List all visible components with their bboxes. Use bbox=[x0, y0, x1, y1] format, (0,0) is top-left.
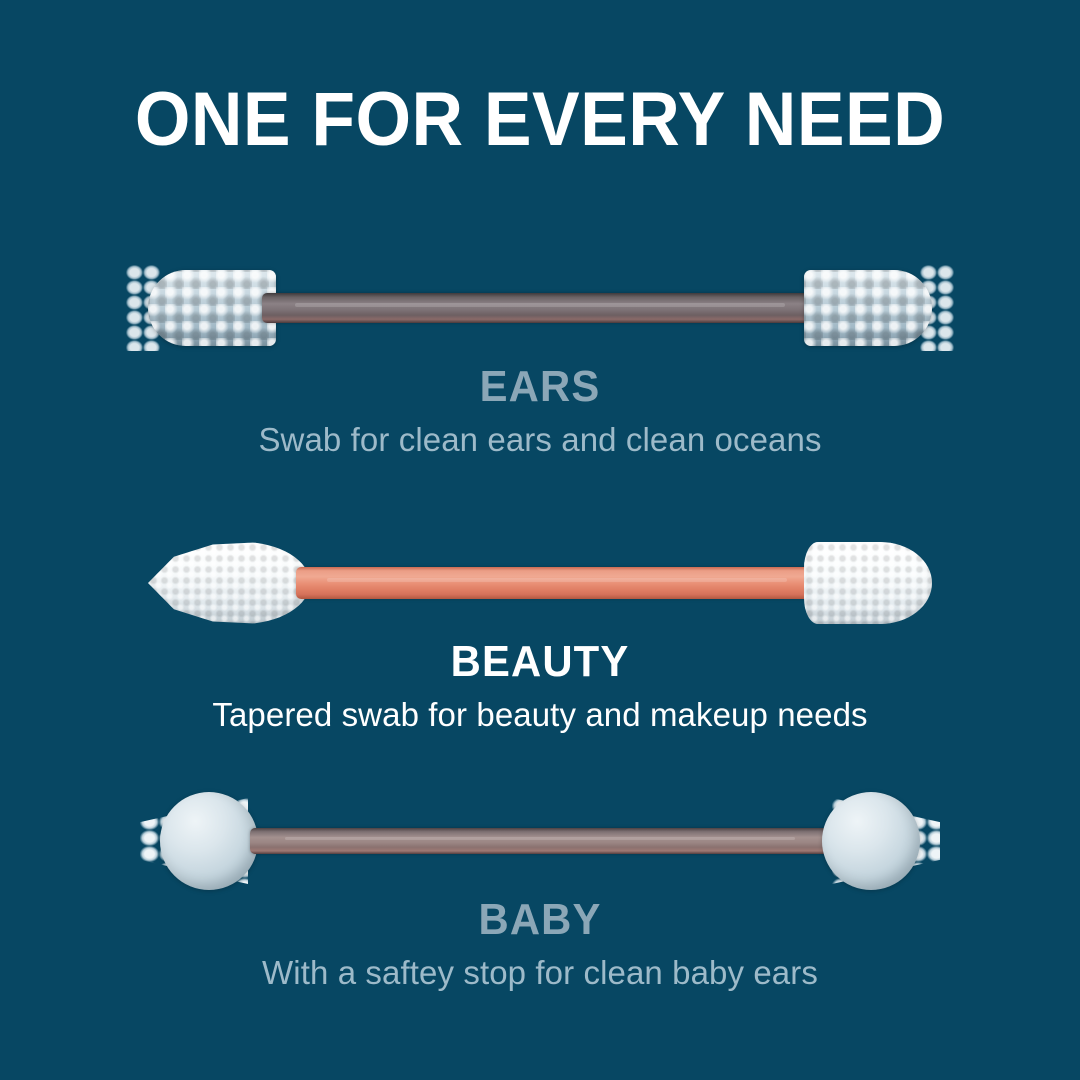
section-subtitle-beauty: Tapered swab for beauty and makeup needs bbox=[0, 695, 1080, 735]
swab-stick bbox=[262, 293, 818, 323]
swab-illustration-baby bbox=[0, 785, 1080, 897]
swab-tip-tapered-left-icon bbox=[148, 542, 310, 624]
safety-stop-ball-right-icon bbox=[822, 792, 920, 890]
safety-stop-ball-left-icon bbox=[160, 792, 258, 890]
dimple-texture bbox=[804, 542, 932, 624]
swab-illustration-beauty bbox=[0, 527, 1080, 639]
dimple-texture bbox=[148, 542, 310, 624]
swab-stick bbox=[250, 828, 830, 854]
swab-stick bbox=[296, 567, 818, 599]
product-feature-graphic: ONE FOR EVERY NEED EARS Swab for clean e… bbox=[0, 0, 1080, 1080]
nub-texture bbox=[804, 270, 932, 346]
section-subtitle-ears: Swab for clean ears and clean oceans bbox=[0, 420, 1080, 460]
swab-tip-right-icon bbox=[804, 270, 932, 346]
section-label-beauty: BEAUTY bbox=[27, 639, 1053, 685]
section-label-ears: EARS bbox=[27, 364, 1053, 410]
section-ears: EARS Swab for clean ears and clean ocean… bbox=[0, 252, 1080, 460]
swab-tip-left-icon bbox=[148, 270, 276, 346]
section-beauty: BEAUTY Tapered swab for beauty and makeu… bbox=[0, 527, 1080, 735]
page-title: ONE FOR EVERY NEED bbox=[32, 82, 1047, 158]
swab-illustration-ears bbox=[0, 252, 1080, 364]
section-label-baby: BABY bbox=[27, 897, 1053, 943]
swab-tip-rounded-right-icon bbox=[804, 542, 932, 624]
section-subtitle-baby: With a saftey stop for clean baby ears bbox=[0, 953, 1080, 993]
nub-texture bbox=[148, 270, 276, 346]
section-baby: BABY With a saftey stop for clean baby e… bbox=[0, 785, 1080, 993]
